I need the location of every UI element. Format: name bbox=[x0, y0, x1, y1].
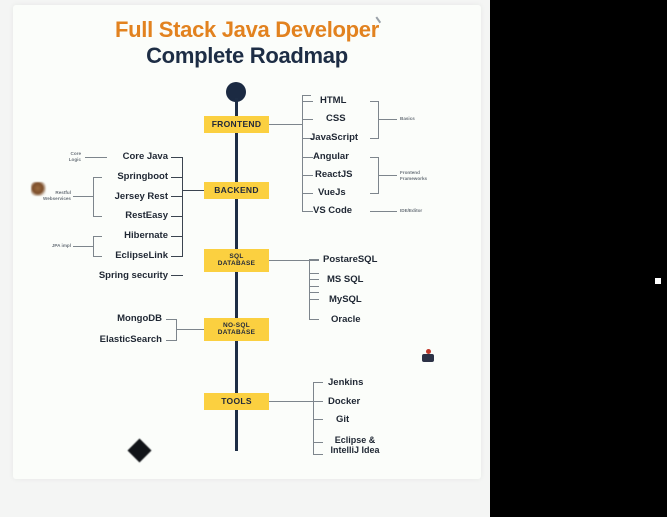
nosql-tick-elasticsearch bbox=[166, 340, 177, 341]
frontend-tick-html bbox=[302, 101, 313, 102]
frontend-bracket-spine bbox=[302, 95, 303, 212]
leaf-hibernate[interactable]: Hibernate bbox=[68, 230, 168, 241]
black-right-pane bbox=[490, 0, 667, 517]
sql-tick-mssql bbox=[309, 273, 319, 274]
leaf-spring-security[interactable]: Spring security bbox=[58, 270, 168, 281]
annotation-restful-webservices: Restful Webservices bbox=[21, 190, 71, 202]
ide-editor-stem bbox=[370, 211, 397, 212]
leaf-vscode[interactable]: VS Code bbox=[313, 205, 352, 216]
leaf-eclipse-intellij-line2: IntelliJ Idea bbox=[330, 445, 379, 455]
annotation-core-logic: Core Logic bbox=[33, 151, 81, 163]
leaf-eclipse-intellij[interactable]: Eclipse & IntelliJ Idea bbox=[319, 435, 391, 456]
backend-tick-core-java bbox=[171, 157, 183, 158]
node-nosql-database[interactable]: NO-SQL DATABASE bbox=[204, 318, 269, 341]
leaf-reactjs[interactable]: ReactJS bbox=[315, 169, 353, 180]
frontend-stem bbox=[269, 124, 303, 125]
leaf-oracle[interactable]: Oracle bbox=[331, 314, 361, 325]
leaf-angular[interactable]: Angular bbox=[313, 151, 349, 162]
sql-leaf-tick-4 bbox=[309, 319, 319, 320]
frontend-tick-vuejs bbox=[302, 193, 313, 194]
node-sql-database-label-line2: DATABASE bbox=[218, 261, 256, 268]
node-sql-database[interactable]: SQL DATABASE bbox=[204, 249, 269, 272]
leaf-core-java[interactable]: Core Java bbox=[68, 151, 168, 162]
node-tools-label: TOOLS bbox=[221, 397, 252, 406]
frontend-tick-vscode bbox=[302, 211, 313, 212]
restful-bracket-bottom bbox=[93, 216, 102, 217]
frontend-tick-css bbox=[302, 119, 313, 120]
annotation-core-logic-line2: Logic bbox=[69, 157, 81, 162]
leaf-eclipselink[interactable]: EclipseLink bbox=[68, 250, 168, 261]
leaf-jenkins[interactable]: Jenkins bbox=[328, 377, 363, 388]
restful-stem bbox=[73, 196, 94, 197]
node-tools[interactable]: TOOLS bbox=[204, 393, 269, 410]
backend-tick-springboot bbox=[171, 177, 183, 178]
basics-stem bbox=[378, 119, 397, 120]
backend-tick-resteasy bbox=[171, 216, 183, 217]
decorative-diamond-icon bbox=[127, 438, 151, 462]
leaf-eclipse-intellij-line1: Eclipse & bbox=[335, 435, 376, 445]
frameworks-bracket-bottom bbox=[370, 193, 379, 194]
leaf-html[interactable]: HTML bbox=[320, 95, 346, 106]
backend-tick-hibernate bbox=[171, 236, 183, 237]
leaf-resteasy[interactable]: RestEasy bbox=[68, 210, 168, 221]
annotation-ide-editor: IDE/Editor bbox=[400, 208, 422, 214]
leaf-springboot[interactable]: Springboot bbox=[68, 171, 168, 182]
annotation-frontend-frameworks: Frontend Frameworks bbox=[400, 170, 427, 182]
leaf-git[interactable]: Git bbox=[336, 414, 349, 425]
nosql-stem bbox=[176, 329, 204, 330]
mouse-cursor bbox=[655, 278, 661, 284]
node-backend[interactable]: BACKEND bbox=[204, 182, 269, 199]
leaf-mysql[interactable]: MySQL bbox=[329, 294, 362, 305]
sql-leaf-tick-2 bbox=[309, 279, 319, 280]
annotation-frontend-frameworks-line1: Frontend bbox=[400, 170, 420, 175]
decorative-badge-body bbox=[422, 354, 434, 362]
core-logic-stem bbox=[85, 157, 107, 158]
nosql-bracket-spine bbox=[176, 319, 177, 340]
annotation-jpa-impl: JPA impl bbox=[31, 243, 71, 249]
node-backend-label: BACKEND bbox=[214, 186, 259, 195]
nosql-tick-mongodb bbox=[166, 319, 177, 320]
page-title-line2: Complete Roadmap bbox=[13, 43, 481, 69]
annotation-restful-webservices-line2: Webservices bbox=[43, 196, 71, 201]
frontend-tick-reactjs bbox=[302, 175, 313, 176]
sql-stem bbox=[269, 260, 310, 261]
frameworks-stem bbox=[378, 175, 397, 176]
backend-tick-eclipselink bbox=[171, 256, 183, 257]
frontend-bracket-top bbox=[302, 95, 311, 96]
leaf-postgresql[interactable]: PostareSQL bbox=[323, 254, 377, 265]
leaf-elasticsearch[interactable]: ElasticSearch bbox=[63, 334, 162, 345]
leaf-javascript[interactable]: JavaScript bbox=[310, 132, 358, 143]
leaf-mongodb[interactable]: MongoDB bbox=[63, 313, 162, 324]
leaf-vuejs[interactable]: VueJs bbox=[318, 187, 346, 198]
tools-tick-git bbox=[313, 419, 323, 420]
frontend-tick-angular bbox=[302, 157, 313, 158]
tools-stem bbox=[269, 401, 314, 402]
sql-bracket-spine-main bbox=[309, 259, 310, 320]
sql-tick-mysql bbox=[309, 286, 319, 287]
decorative-blob-icon bbox=[31, 182, 46, 196]
sql-bracket-bottom bbox=[309, 292, 319, 293]
node-nosql-database-label-line2: DATABASE bbox=[218, 330, 256, 337]
leaf-mssql[interactable]: MS SQL bbox=[327, 274, 363, 285]
basics-bracket-bottom bbox=[370, 138, 379, 139]
leaf-css[interactable]: CSS bbox=[326, 113, 346, 124]
sql-leaf-tick-1 bbox=[309, 259, 319, 260]
backend-bracket-spine bbox=[182, 157, 183, 256]
jpa-stem bbox=[73, 246, 94, 247]
page-title-line1: Full Stack Java Developer bbox=[13, 17, 481, 43]
backend-tick-jersey-rest bbox=[171, 196, 183, 197]
annotation-frontend-frameworks-line2: Frameworks bbox=[400, 176, 427, 181]
annotation-restful-webservices-line1: Restful bbox=[55, 190, 71, 195]
node-frontend[interactable]: FRONTEND bbox=[204, 116, 269, 133]
annotation-basics: Basics bbox=[400, 116, 415, 122]
backend-stem bbox=[182, 190, 204, 191]
sql-leaf-tick-3 bbox=[309, 299, 319, 300]
roadmap-card: Full Stack Java Developer Complete Roadm… bbox=[13, 5, 481, 479]
tools-tick-jenkins bbox=[313, 382, 323, 383]
jpa-bracket-bottom bbox=[93, 256, 102, 257]
leaf-docker[interactable]: Docker bbox=[328, 396, 360, 407]
annotation-core-logic-line1: Core bbox=[71, 151, 81, 156]
decorative-badge-icon bbox=[422, 349, 434, 362]
tools-tick-docker bbox=[313, 401, 323, 402]
node-frontend-label: FRONTEND bbox=[212, 120, 262, 129]
backend-tick-spring-security bbox=[171, 275, 183, 276]
